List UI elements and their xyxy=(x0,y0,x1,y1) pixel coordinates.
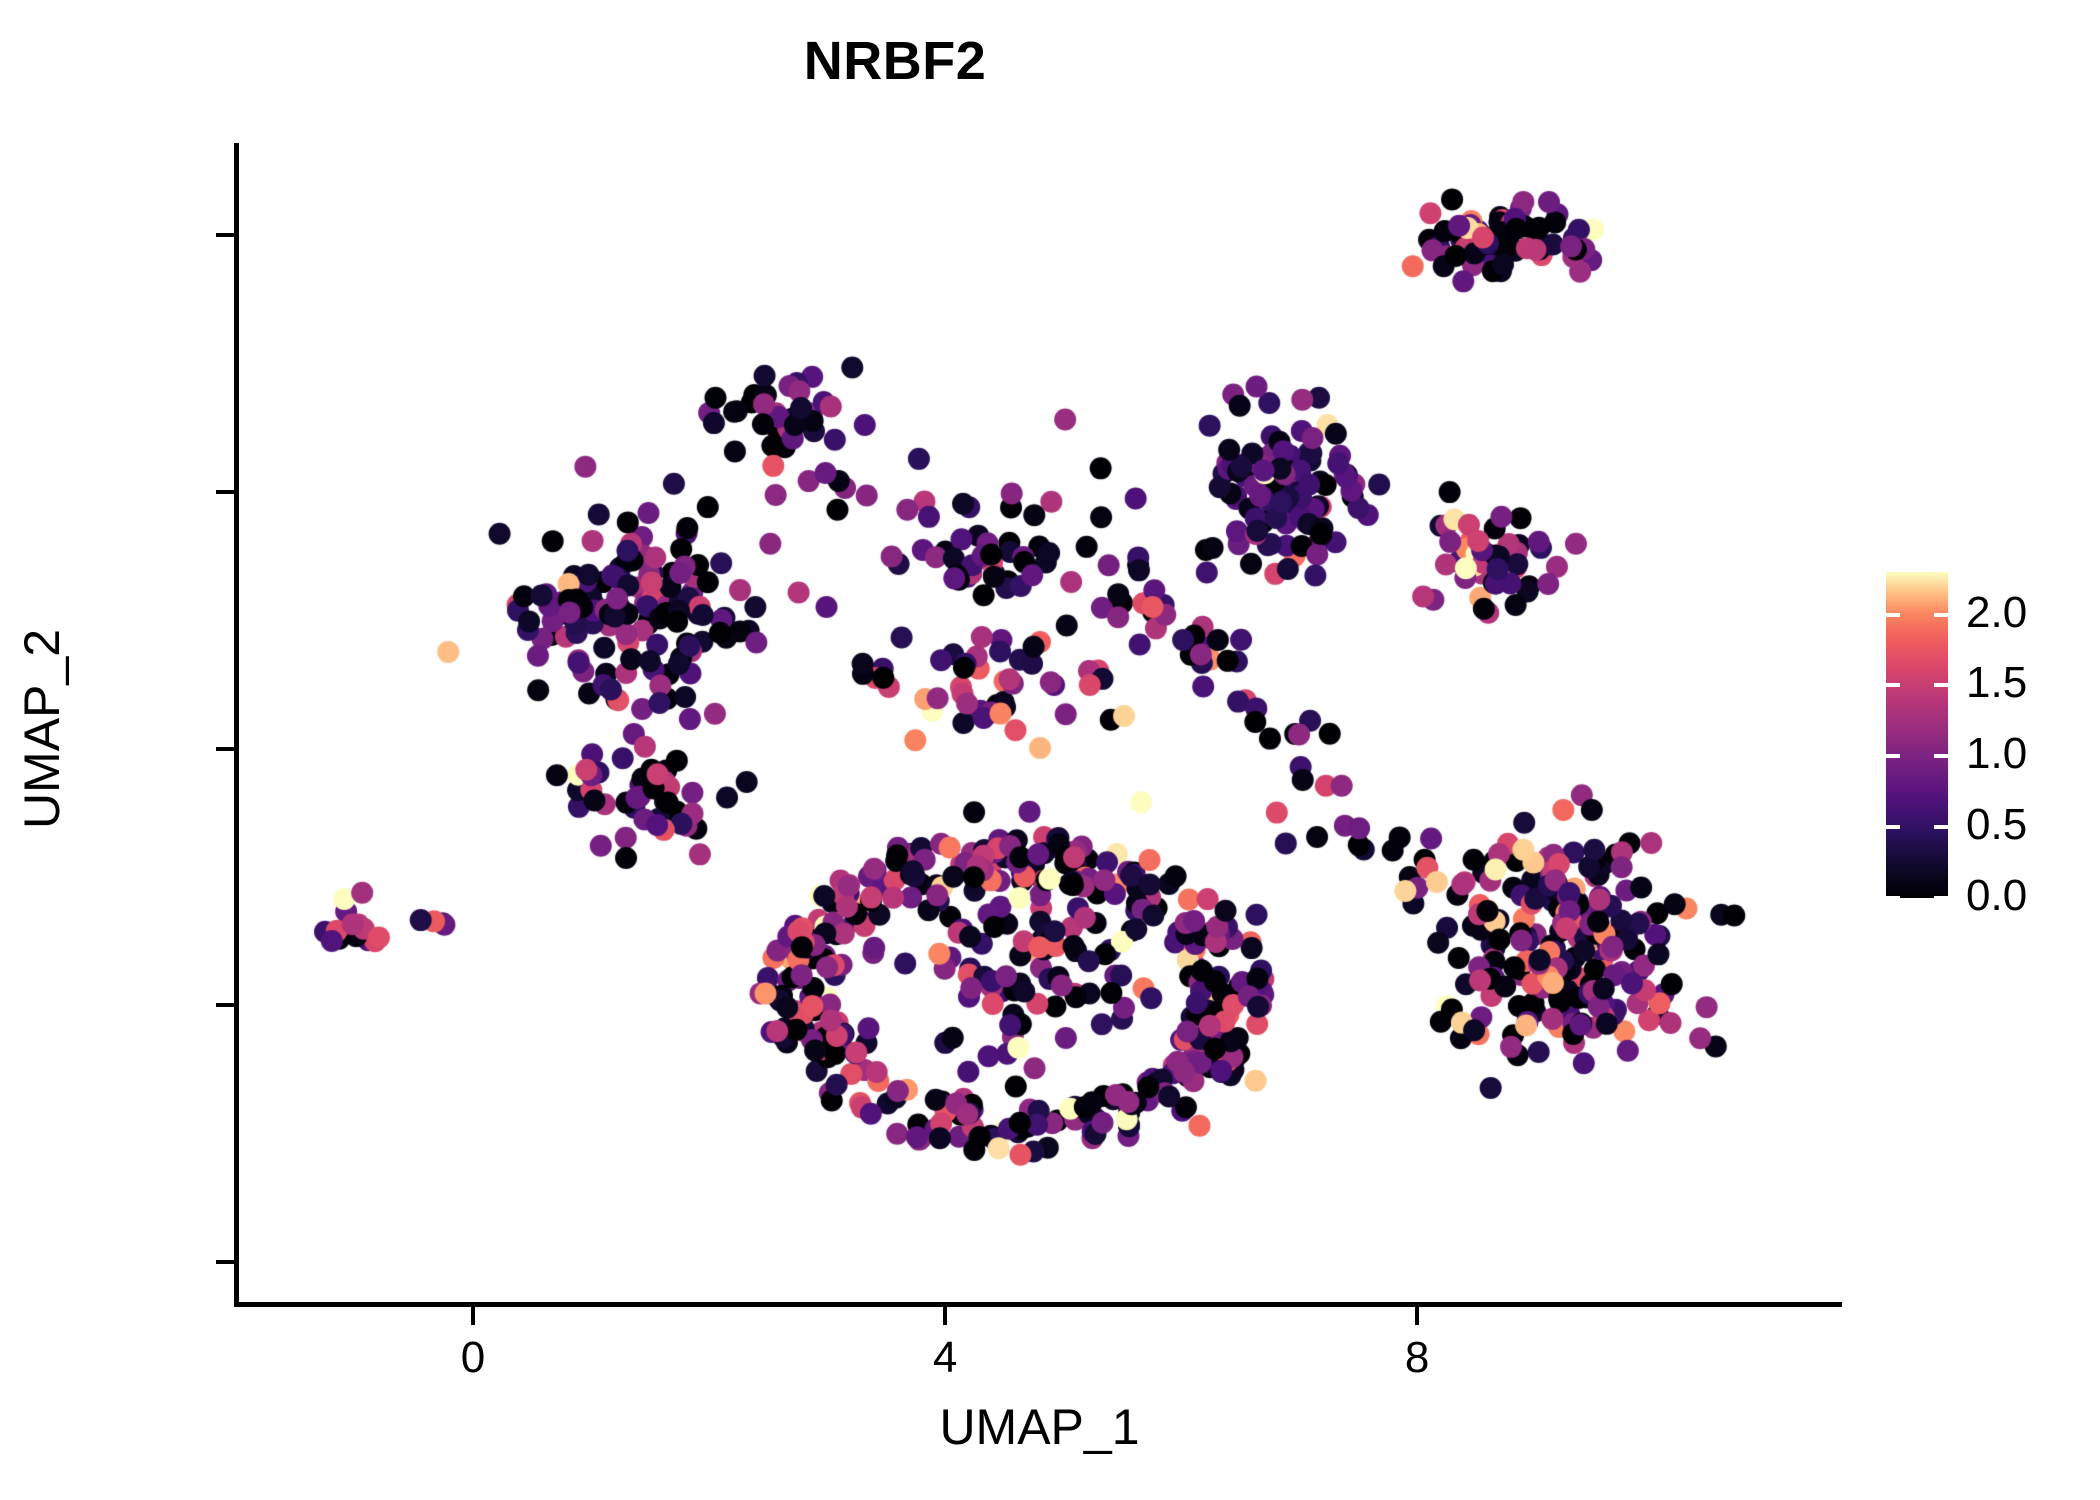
scatter-plot-figure: NRBF2 -2.50.02.55.07.5 048 UMAP_2 UMAP_1… xyxy=(0,0,2100,1500)
colorbar-tick-mark xyxy=(1934,683,1948,687)
x-tick-mark xyxy=(471,1307,475,1325)
colorbar-tick-label: 1.5 xyxy=(1966,658,2027,708)
x-tick-label: 0 xyxy=(393,1333,553,1383)
colorbar-gradient xyxy=(1886,572,1948,898)
x-tick-mark xyxy=(1415,1307,1419,1325)
colorbar-tick-mark xyxy=(1934,896,1948,900)
page-title: NRBF2 xyxy=(0,30,1790,92)
colorbar-tick-mark xyxy=(1886,613,1900,617)
y-tick-mark xyxy=(216,490,234,494)
colorbar-legend: 0.00.51.01.52.0 xyxy=(1886,572,2086,902)
x-tick-label: 4 xyxy=(865,1333,1025,1383)
y-tick-mark xyxy=(216,233,234,237)
colorbar-tick-label: 0.5 xyxy=(1966,800,2027,850)
colorbar-tick-mark xyxy=(1934,613,1948,617)
plot-panel xyxy=(237,143,1842,1303)
x-tick-label: 8 xyxy=(1337,1333,1497,1383)
scatter-points-layer xyxy=(237,143,1842,1303)
y-tick-mark xyxy=(216,747,234,751)
colorbar-tick-mark xyxy=(1886,683,1900,687)
x-axis-line xyxy=(234,1302,1842,1307)
colorbar-tick-label: 2.0 xyxy=(1966,588,2027,638)
x-tick-mark xyxy=(943,1307,947,1325)
x-axis-title: UMAP_1 xyxy=(237,1398,1842,1456)
colorbar-tick-mark xyxy=(1934,825,1948,829)
colorbar-tick-mark xyxy=(1886,825,1900,829)
y-axis-line xyxy=(234,143,239,1305)
colorbar-tick-mark xyxy=(1886,754,1900,758)
colorbar-tick-label: 0.0 xyxy=(1966,871,2027,921)
colorbar-tick-label: 1.0 xyxy=(1966,729,2027,779)
y-tick-mark xyxy=(216,1260,234,1264)
colorbar-tick-mark xyxy=(1886,896,1900,900)
colorbar-tick-mark xyxy=(1934,754,1948,758)
y-axis-title: UMAP_2 xyxy=(13,449,71,1009)
y-tick-mark xyxy=(216,1003,234,1007)
